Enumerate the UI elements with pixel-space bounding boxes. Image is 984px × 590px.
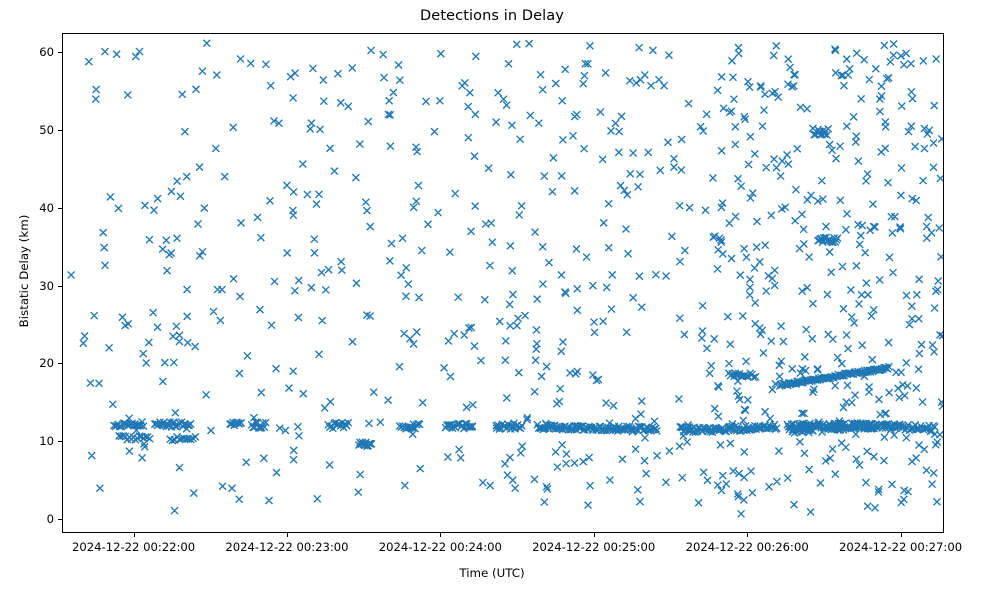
- x-tick-mark: [440, 533, 441, 537]
- x-tick-label: 2024-12-22 00:26:00: [686, 540, 809, 554]
- x-tick-label: 2024-12-22 00:23:00: [225, 540, 348, 554]
- y-tick-mark: [58, 286, 62, 287]
- x-tick-mark: [134, 533, 135, 537]
- y-tick-label: 60: [14, 45, 54, 59]
- y-tick-mark: [58, 208, 62, 209]
- y-tick-mark: [58, 130, 62, 131]
- y-tick-label: 0: [14, 512, 54, 526]
- y-tick-mark: [58, 441, 62, 442]
- scatter-points-layer: [63, 34, 943, 532]
- x-tick-label: 2024-12-22 00:27:00: [839, 540, 962, 554]
- y-tick-mark: [58, 519, 62, 520]
- plot-area: [62, 33, 944, 533]
- scatter-marker-set: [68, 40, 943, 518]
- y-tick-label: 50: [14, 123, 54, 137]
- x-tick-mark: [901, 533, 902, 537]
- chart-title: Detections in Delay: [0, 8, 984, 24]
- x-tick-mark: [287, 533, 288, 537]
- x-tick-label: 2024-12-22 00:25:00: [532, 540, 655, 554]
- x-tick-mark: [594, 533, 595, 537]
- x-tick-mark: [747, 533, 748, 537]
- x-axis-label: Time (UTC): [0, 566, 984, 580]
- y-axis-label: Bistatic Delay (km): [17, 151, 31, 391]
- matplotlib-figure: Detections in Delay 2024-12-22 00:22:002…: [0, 0, 984, 590]
- x-tick-label: 2024-12-22 00:24:00: [379, 540, 502, 554]
- y-tick-mark: [58, 363, 62, 364]
- y-tick-label: 10: [14, 434, 54, 448]
- y-tick-mark: [58, 52, 62, 53]
- x-tick-label: 2024-12-22 00:22:00: [72, 540, 195, 554]
